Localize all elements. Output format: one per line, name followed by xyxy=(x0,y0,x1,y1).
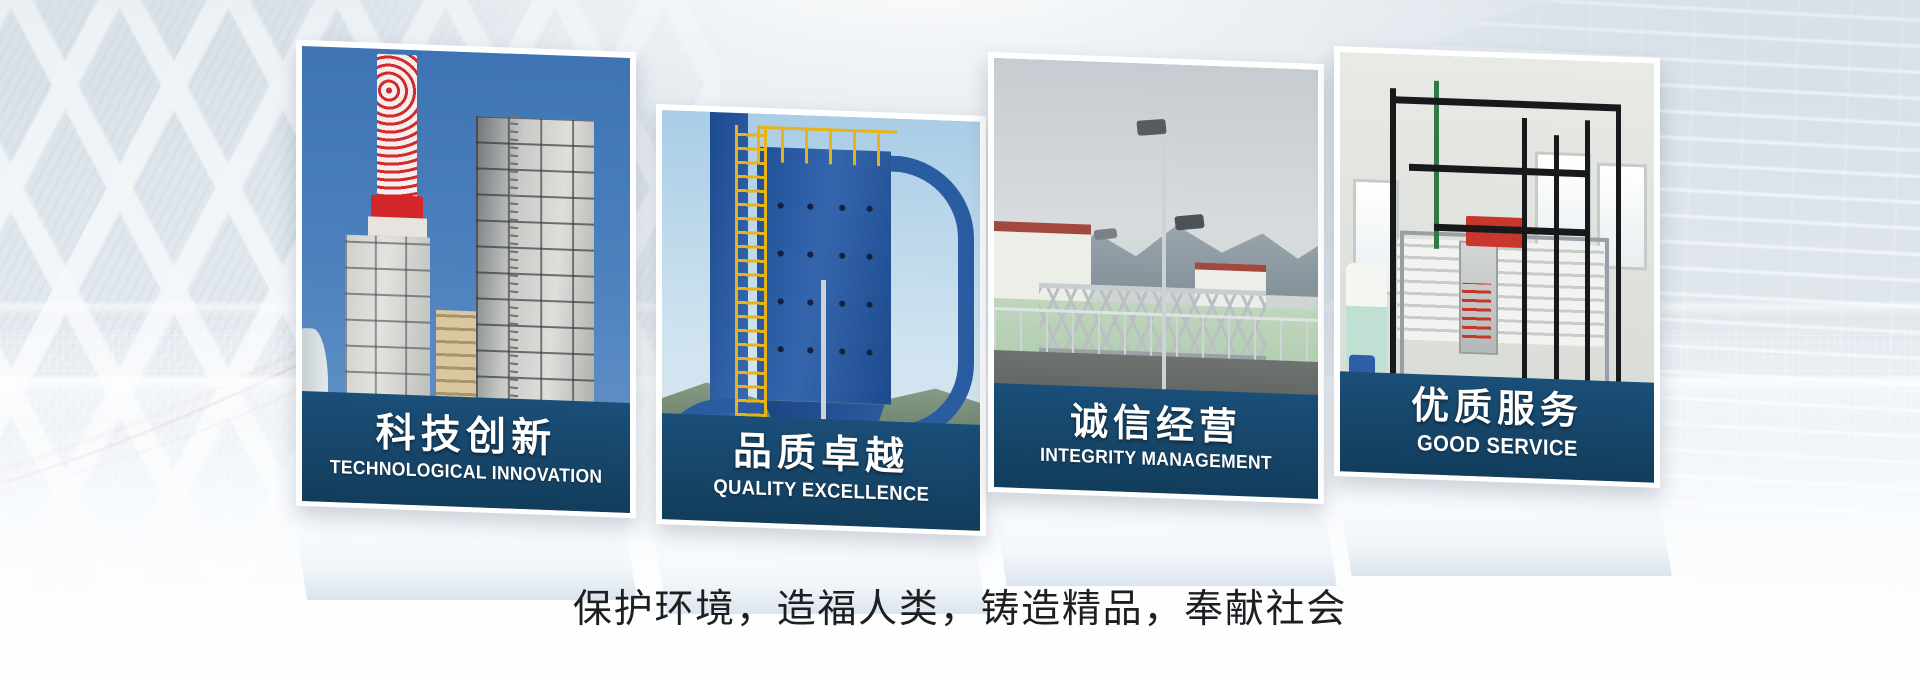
feature-card-technological-innovation[interactable]: 科技创新 TECHNOLOGICAL INNOVATION xyxy=(296,40,636,518)
feature-card-good-service[interactable]: 优质服务 GOOD SERVICE xyxy=(1334,46,1660,488)
card-photo-frame-2: 品质卓越 QUALITY EXCELLENCE xyxy=(662,110,980,531)
card-title-cn-1: 科技创新 xyxy=(376,411,557,460)
banner-tagline: 保护环境，造福人类，铸造精品，奉献社会 xyxy=(0,578,1920,634)
photo-second-lamp-head xyxy=(1175,214,1206,230)
card-caption-1: 科技创新 TECHNOLOGICAL INNOVATION xyxy=(302,391,630,513)
card-title-en-2: QUALITY EXCELLENCE xyxy=(713,477,929,508)
photo-yellow-handrail xyxy=(757,126,897,167)
card-caption-4: 优质服务 GOOD SERVICE xyxy=(1340,371,1654,483)
card-photo-frame-4: 优质服务 GOOD SERVICE xyxy=(1340,52,1654,483)
photo-vertical-pipe-3 xyxy=(1554,135,1559,412)
banner-stage: 科技创新 TECHNOLOGICAL INNOVATION xyxy=(0,0,1920,700)
card-title-en-3: INTEGRITY MANAGEMENT xyxy=(1040,445,1272,476)
card-caption-3: 诚信经营 INTEGRITY MANAGEMENT xyxy=(994,383,1318,499)
photo-panel-indicators xyxy=(1462,283,1490,339)
photo-return-duct xyxy=(888,155,974,444)
photo-vertical-pipe-1 xyxy=(1390,88,1395,415)
card-title-en-1: TECHNOLOGICAL INNOVATION xyxy=(330,457,603,489)
card-title-cn-3: 诚信经营 xyxy=(1070,401,1242,447)
card-photo-frame-3: 诚信经营 INTEGRITY MANAGEMENT xyxy=(994,58,1318,499)
card-title-cn-4: 优质服务 xyxy=(1411,386,1583,432)
feature-card-integrity-management[interactable]: 诚信经营 INTEGRITY MANAGEMENT xyxy=(988,52,1324,504)
photo-lamp-head xyxy=(1136,119,1167,136)
photo-vertical-pipe-5 xyxy=(1616,104,1620,406)
photo-distant-lamp xyxy=(1094,228,1118,241)
photo-vertical-pipe-2 xyxy=(1522,118,1527,420)
photo-vertical-pipe-4 xyxy=(1585,120,1590,405)
feature-card-quality-excellence[interactable]: 品质卓越 QUALITY EXCELLENCE xyxy=(656,104,986,536)
card-caption-2: 品质卓越 QUALITY EXCELLENCE xyxy=(662,413,980,531)
card-photo-frame-1: 科技创新 TECHNOLOGICAL INNOVATION xyxy=(302,46,630,513)
card-title-cn-2: 品质卓越 xyxy=(733,431,909,478)
card-title-en-4: GOOD SERVICE xyxy=(1417,430,1578,462)
